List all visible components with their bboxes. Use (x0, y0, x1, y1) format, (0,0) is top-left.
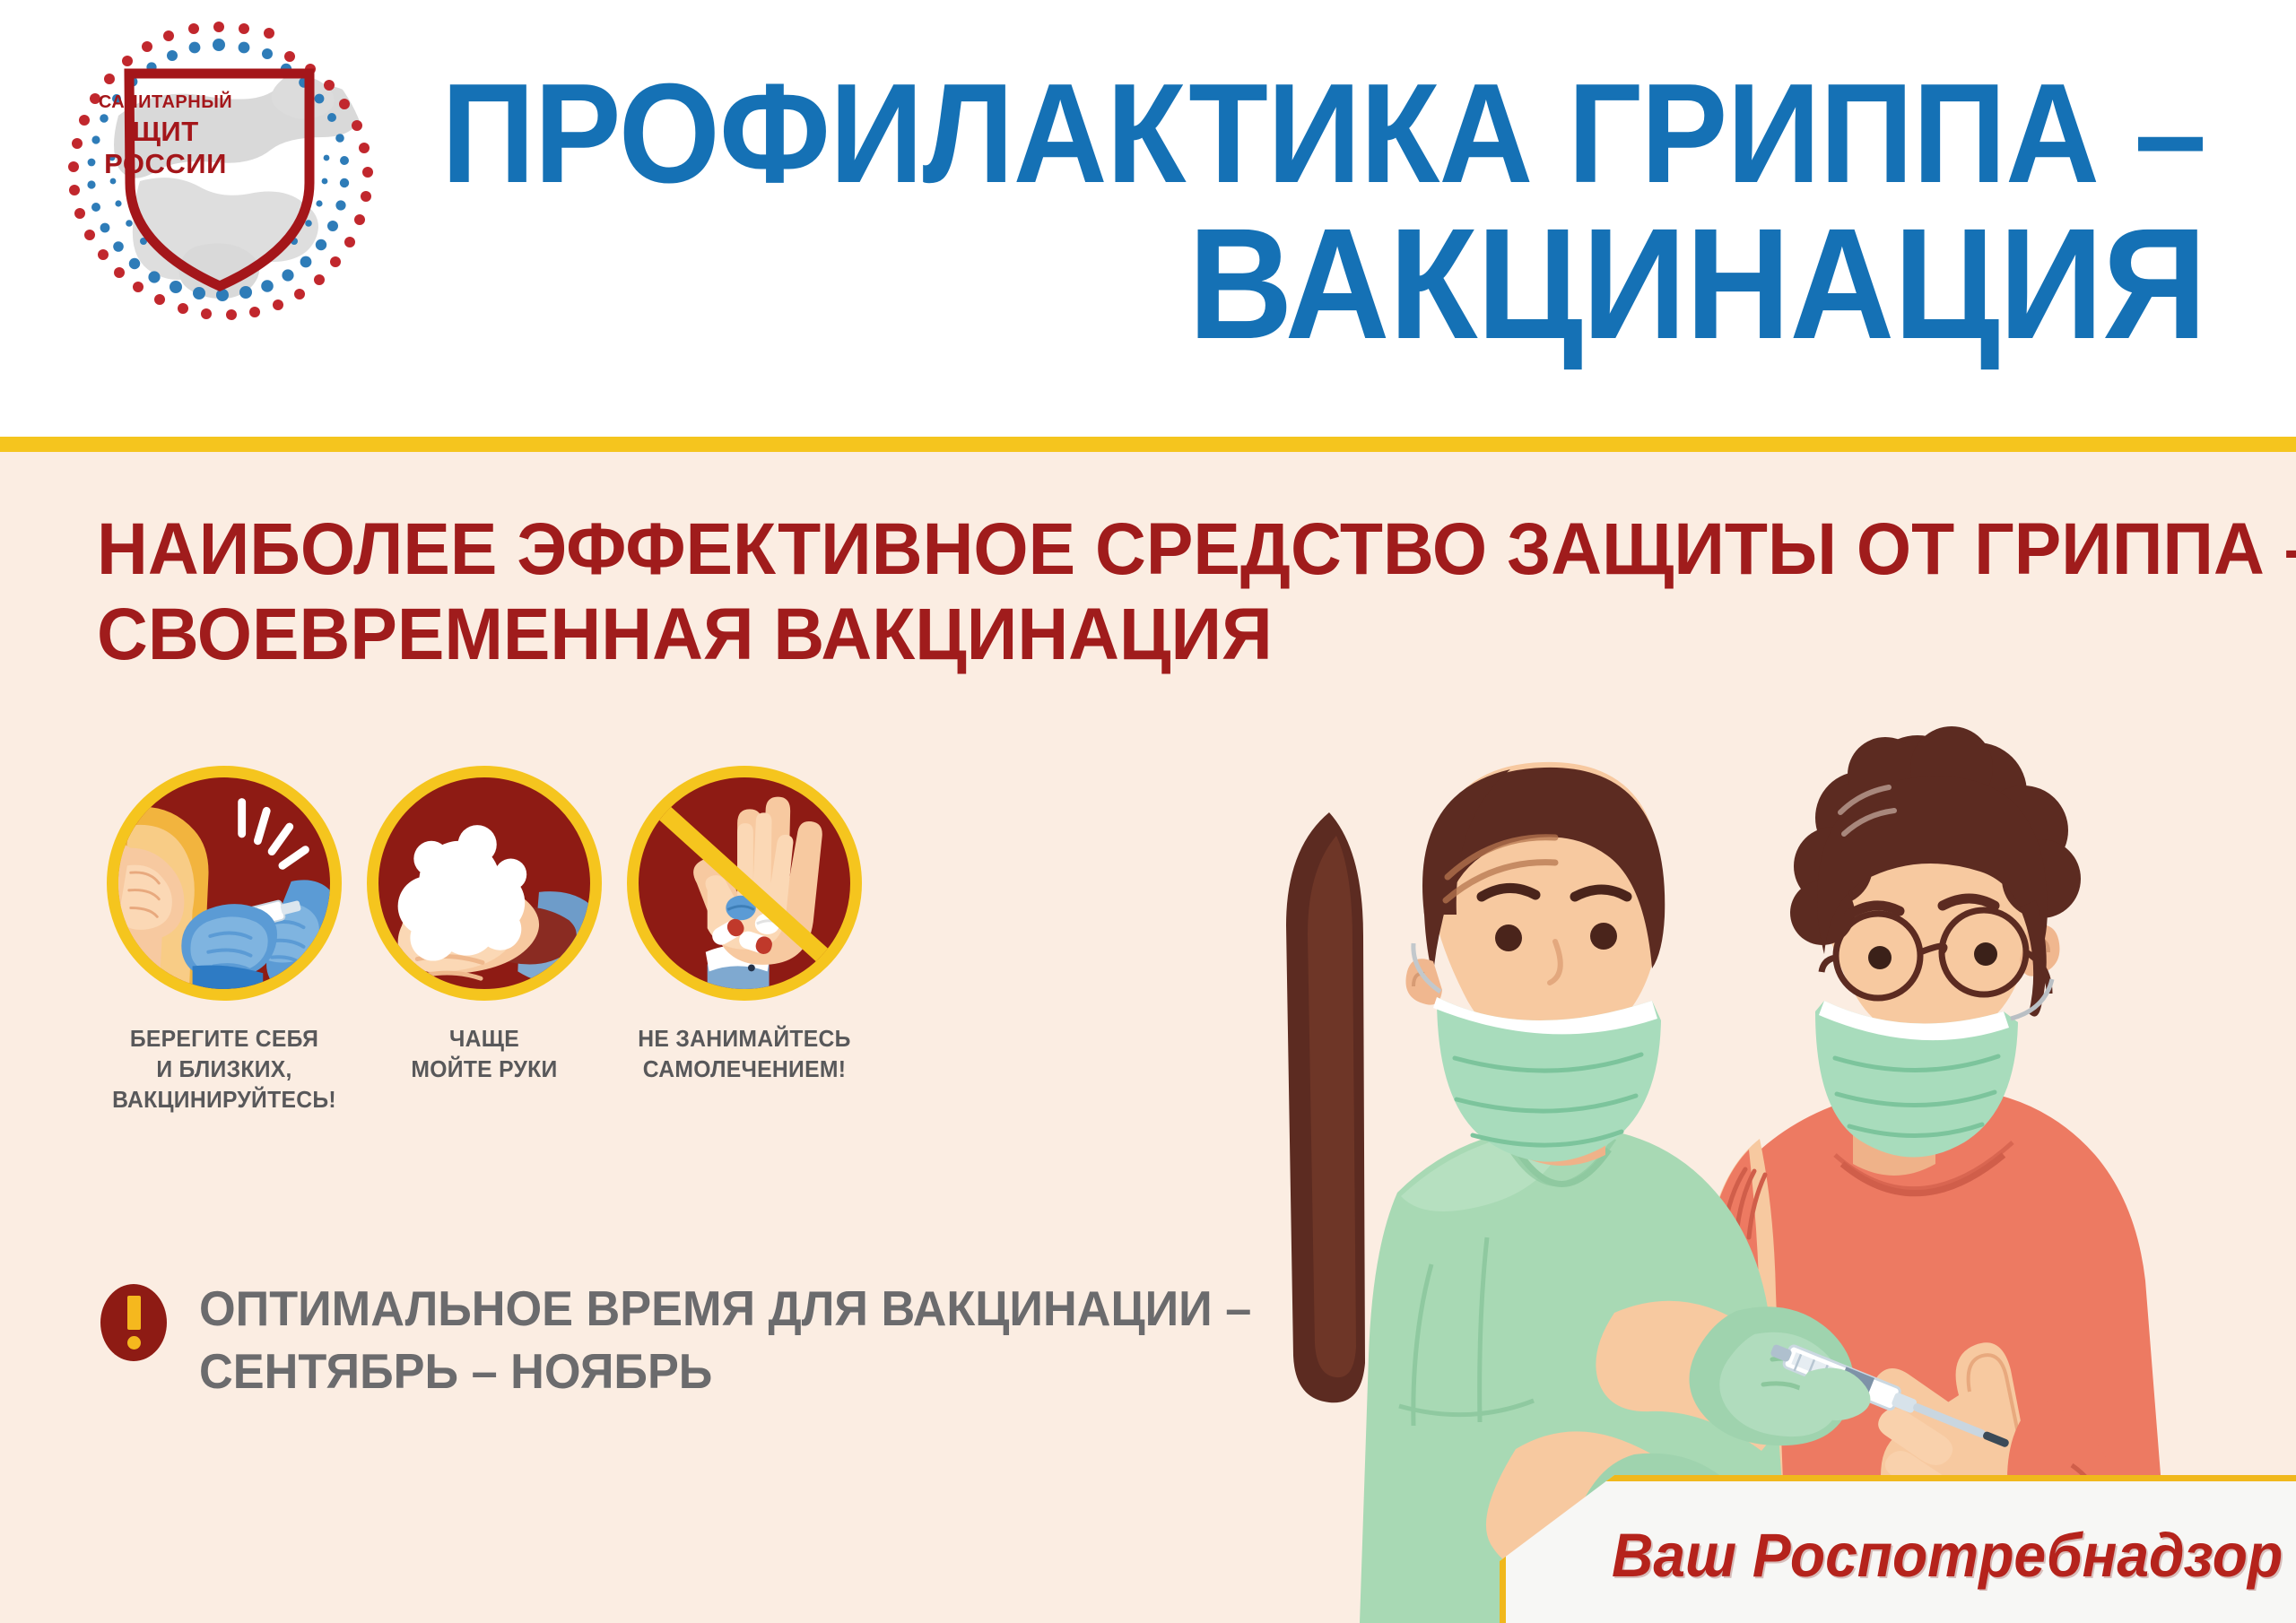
footer-banner: Ваш Роспотребнадзор (1500, 1475, 2296, 1623)
prevention-item-vaccination: БЕРЕГИТЕ СЕБЯ И БЛИЗКИХ, ВАКЦИНИРУЙТЕСЬ! (90, 766, 359, 1115)
hand-washing-soap-icon (367, 766, 602, 1001)
prevention-item-no-self-medication: НЕ ЗАНИМАЙТЕСЬ САМОЛЕЧЕНИЕМ! (610, 766, 879, 1085)
exclamation-dot (127, 1336, 141, 1350)
caption-line2: МОЙТЕ РУКИ (357, 1055, 613, 1085)
poster-body: НАИБОЛЕЕ ЭФФЕКТИВНОЕ СРЕДСТВО ЗАЩИТЫ ОТ … (0, 452, 2296, 1623)
caption-line1: ЧАЩЕ (357, 1024, 613, 1055)
caption-line1: БЕРЕГИТЕ СЕБЯ (97, 1024, 352, 1055)
caption-line2: САМОЛЕЧЕНИЕМ! (617, 1055, 873, 1085)
vaccination-syringe-arm-icon (107, 766, 342, 1001)
shield-label: САНИТАРНЫЙ ЩИТ РОССИИ (65, 22, 266, 250)
optimal-time-callout: ОПТИМАЛЬНОЕ ВРЕМЯ ДЛЯ ВАКЦИНАЦИИ – СЕНТЯ… (100, 1277, 1356, 1403)
shield-label-line1: САНИТАРНЫЙ (99, 93, 232, 113)
poster-root: САНИТАРНЫЙ ЩИТ РОССИИ ПРОФИЛАКТИКА ГРИПП… (0, 0, 2296, 1623)
optimal-time-line2: СЕНТЯБРЬ – НОЯБРЬ (199, 1340, 1251, 1402)
shield-label-line3: РОССИИ (104, 149, 227, 178)
nurse-vaccinating-patient-illustration (1247, 479, 2296, 1623)
poster-header: САНИТАРНЫЙ ЩИТ РОССИИ ПРОФИЛАКТИКА ГРИПП… (0, 0, 2296, 442)
optimal-time-text: ОПТИМАЛЬНОЕ ВРЕМЯ ДЛЯ ВАКЦИНАЦИИ – СЕНТЯ… (199, 1277, 1251, 1403)
footer-brand-text: Ваш Роспотребнадзор (1612, 1520, 2283, 1591)
caption-line2: И БЛИЗКИХ, (97, 1055, 352, 1085)
caption-line1: НЕ ЗАНИМАЙТЕСЬ (617, 1024, 873, 1055)
prevention-caption-no-self-medication: НЕ ЗАНИМАЙТЕСЬ САМОЛЕЧЕНИЕМ! (617, 1024, 873, 1085)
exclamation-mark (127, 1296, 141, 1350)
page-title: ПРОФИЛАКТИКА ГРИППА – ВАКЦИНАЦИЯ (574, 16, 2206, 411)
no-self-medication-pills-icon (627, 766, 862, 1001)
caption-line3: ВАКЦИНИРУЙТЕСЬ! (97, 1085, 352, 1115)
gold-divider (0, 437, 2296, 452)
prevention-item-handwashing: ЧАЩЕ МОЙТЕ РУКИ (350, 766, 619, 1085)
sanitary-shield-logo: САНИТАРНЫЙ ЩИТ РОССИИ (65, 22, 374, 331)
optimal-time-line1: ОПТИМАЛЬНОЕ ВРЕМЯ ДЛЯ ВАКЦИНАЦИИ – (199, 1277, 1251, 1340)
page-title-line1: ПРОФИЛАКТИКА ГРИППА – (442, 65, 2206, 203)
page-title-line2: ВАКЦИНАЦИЯ (1188, 208, 2206, 361)
prevention-caption-vaccination: БЕРЕГИТЕ СЕБЯ И БЛИЗКИХ, ВАКЦИНИРУЙТЕСЬ! (97, 1024, 352, 1115)
prevention-icon-row: БЕРЕГИТЕ СЕБЯ И БЛИЗКИХ, ВАКЦИНИРУЙТЕСЬ! (90, 766, 1238, 1142)
shield-label-line2: ЩИТ (132, 117, 198, 146)
prevention-caption-handwashing: ЧАЩЕ МОЙТЕ РУКИ (357, 1024, 613, 1085)
exclamation-circle-icon (100, 1284, 167, 1361)
exclamation-bar (127, 1296, 141, 1330)
